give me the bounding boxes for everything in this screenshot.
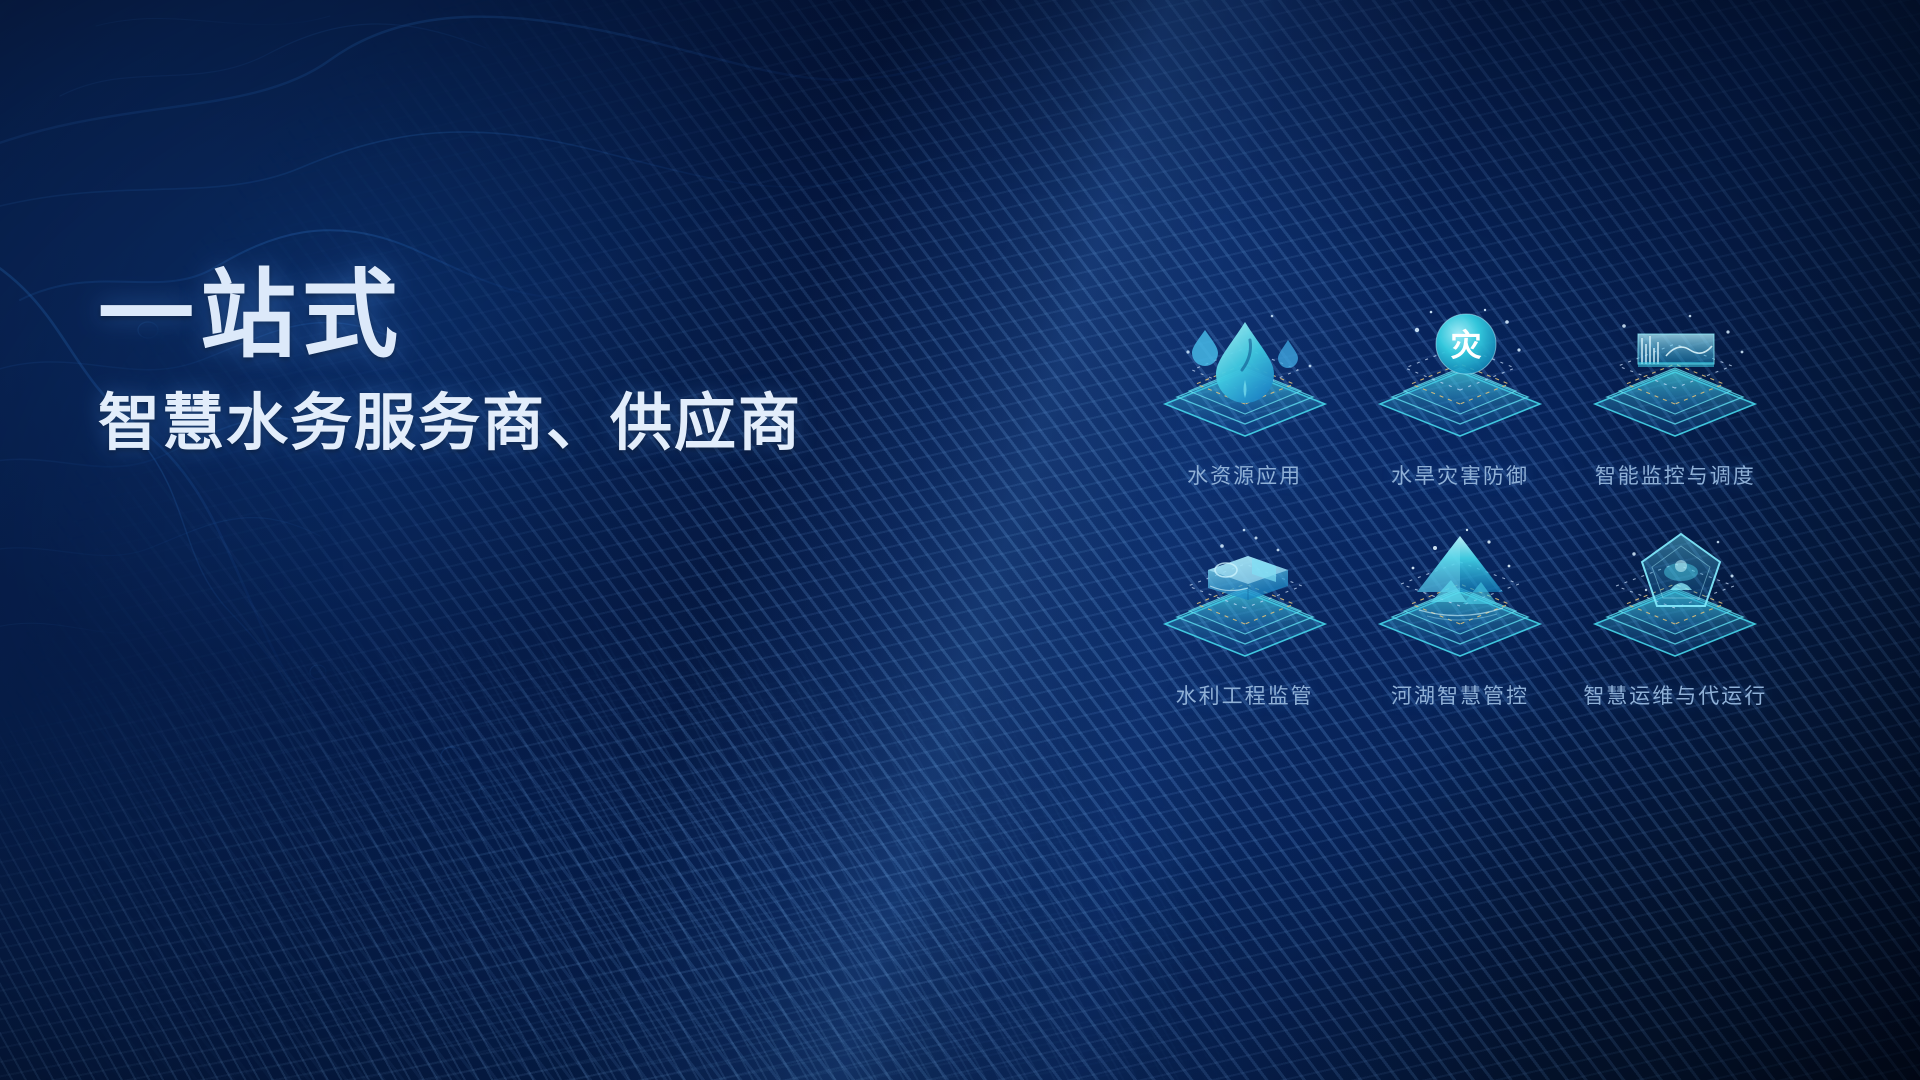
- headline-block: 一站式 智慧水务服务商、供应商: [98, 268, 918, 458]
- service-item-smart-ops-proxy-operation[interactable]: 智慧运维与代运行: [1571, 490, 1780, 710]
- dam-facility-isometric-platform-icon: [1152, 524, 1338, 674]
- service-item-water-resource-application[interactable]: 水资源应用: [1140, 270, 1349, 490]
- service-item-label: 水旱灾害防御: [1391, 460, 1529, 490]
- service-item-label: 河湖智慧管控: [1391, 680, 1529, 710]
- page-subtitle: 智慧水务服务商、供应商: [98, 390, 918, 458]
- service-item-label: 水利工程监管: [1176, 680, 1314, 710]
- service-item-label: 水资源应用: [1187, 460, 1302, 490]
- service-item-label: 智慧运维与代运行: [1583, 680, 1767, 710]
- shield-pentagon-isometric-platform-icon: [1582, 524, 1768, 674]
- service-item-smart-monitor-dispatch[interactable]: 智能监控与调度: [1571, 270, 1780, 490]
- service-icon-grid: 水资源应用: [1140, 270, 1780, 710]
- disaster-glyph: 灾: [1450, 328, 1481, 364]
- page-title: 一站式: [98, 268, 918, 364]
- water-drop-isometric-platform-icon: [1152, 304, 1338, 454]
- control-room-isometric-platform-icon: [1582, 304, 1768, 454]
- mountain-river-isometric-platform-icon: [1367, 524, 1553, 674]
- disaster-sphere-isometric-platform-icon: 灾: [1367, 304, 1553, 454]
- slide-canvas: 一站式 智慧水务服务商、供应商: [0, 0, 1920, 1080]
- service-item-label: 智能监控与调度: [1595, 460, 1756, 490]
- service-item-river-lake-smart-control[interactable]: 河湖智慧管控: [1355, 490, 1564, 710]
- service-item-flood-drought-defense[interactable]: 灾 水旱灾害防御: [1355, 270, 1564, 490]
- service-item-water-project-supervision[interactable]: 水利工程监管: [1140, 490, 1349, 710]
